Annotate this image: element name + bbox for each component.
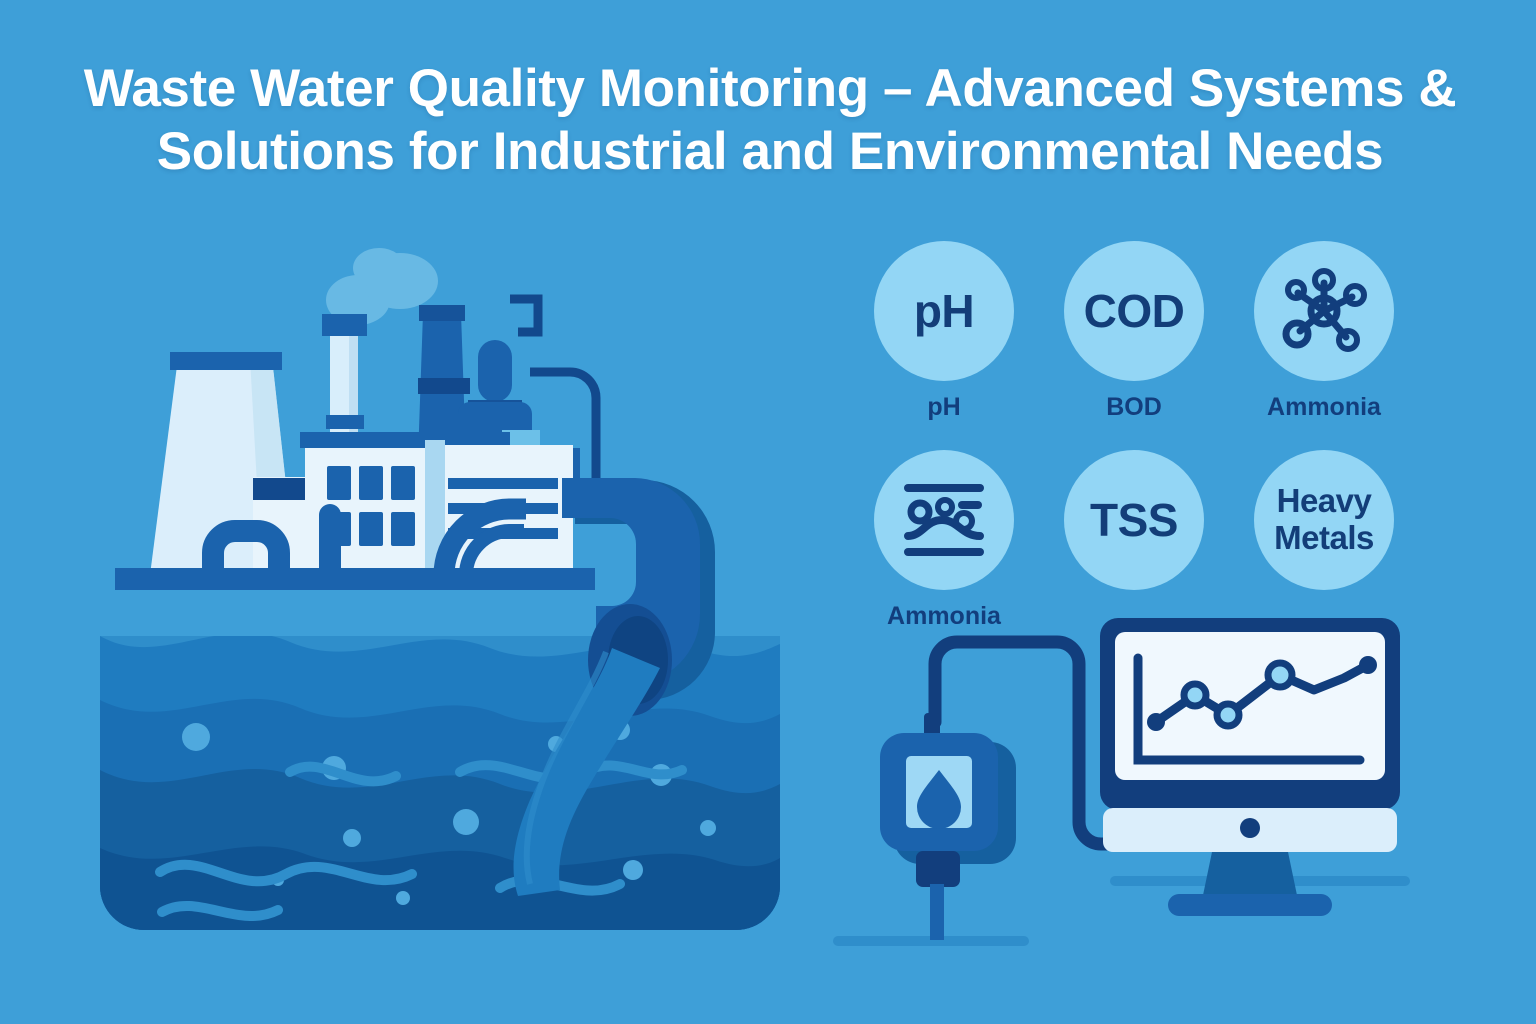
outfall-pipe xyxy=(514,478,715,896)
sensor-display xyxy=(906,756,972,828)
curved-pipe-a xyxy=(444,509,526,575)
overhead-pipes xyxy=(510,299,596,510)
molecule-icon xyxy=(1276,263,1372,359)
sensor-ground-line xyxy=(833,936,1029,946)
badge-caption-ph: pH xyxy=(874,393,1014,422)
water-body xyxy=(100,633,780,960)
monitor-stand-base xyxy=(1168,894,1332,916)
main-building xyxy=(300,432,510,575)
badge-abbr-heavy-metals: Heavy Metals xyxy=(1274,483,1374,557)
water-wave-lines xyxy=(160,765,682,916)
monitor-stand-neck xyxy=(1202,852,1298,900)
chart-line xyxy=(1156,665,1368,722)
curved-pipe-b xyxy=(466,531,524,575)
sensor-body xyxy=(880,733,998,851)
badge-caption-ammonia-bottom: Ammonia xyxy=(874,602,1014,631)
discharge-stream xyxy=(514,648,660,896)
ground-pipes xyxy=(213,515,330,575)
monitor-ground-line xyxy=(1110,876,1410,886)
badge-ammonia-molecule[interactable]: Ammonia xyxy=(1254,241,1394,422)
badge-abbr-cod: COD xyxy=(1084,288,1185,334)
smokestack-light xyxy=(322,314,367,575)
badge-ammonia-solids[interactable]: Ammonia xyxy=(874,450,1014,631)
badge-circle xyxy=(874,450,1014,590)
sensor-cable xyxy=(935,642,1131,844)
sensor-probe xyxy=(930,884,944,940)
water-drop-icon xyxy=(917,770,961,829)
sensor-neck xyxy=(916,851,960,887)
badge-abbr-tss: TSS xyxy=(1090,497,1178,543)
badge-circle xyxy=(1254,241,1394,381)
badge-caption-ammonia-top: Ammonia xyxy=(1254,393,1394,422)
badge-abbr-ph: pH xyxy=(914,288,974,334)
monitoring-display xyxy=(1100,618,1400,916)
cooling-tower xyxy=(150,352,296,575)
factory-ground-slab xyxy=(115,568,595,590)
chart-markers xyxy=(1147,656,1377,731)
badge-cod[interactable]: COD BOD xyxy=(1064,241,1204,422)
monitor-screen xyxy=(1115,632,1385,780)
infographic-canvas: Waste Water Quality Monitoring – Advance… xyxy=(0,0,1536,1024)
screen-line-chart xyxy=(1138,656,1377,760)
annex-roof xyxy=(253,478,327,500)
badge-caption-bod: BOD xyxy=(1064,393,1204,422)
process-tank xyxy=(458,340,610,510)
smokestack-dark xyxy=(414,305,474,575)
smoke-puffs xyxy=(326,248,438,325)
water-quality-sensor xyxy=(880,713,1016,940)
badge-circle: TSS xyxy=(1064,450,1204,590)
water-bubbles xyxy=(182,720,716,905)
industrial-factory xyxy=(115,248,610,590)
monitor-chin xyxy=(1103,808,1397,852)
monitor-indicator xyxy=(1240,818,1260,838)
annex-building xyxy=(253,477,327,575)
right-building xyxy=(445,445,573,575)
building-windows xyxy=(327,466,415,546)
badge-heavy-metals[interactable]: Heavy Metals xyxy=(1254,450,1394,590)
badge-circle: Heavy Metals xyxy=(1254,450,1394,590)
badge-tss[interactable]: TSS xyxy=(1064,450,1204,590)
sensor-body-shadow xyxy=(894,742,1016,864)
page-title: Waste Water Quality Monitoring – Advance… xyxy=(70,58,1470,183)
chart-axes xyxy=(1138,658,1360,760)
monitor-bezel xyxy=(1100,618,1400,810)
badge-circle: COD xyxy=(1064,241,1204,381)
building-louvers xyxy=(448,478,558,539)
suspended-solids-icon xyxy=(898,474,990,566)
stream-highlight xyxy=(527,652,606,884)
sensor-connector xyxy=(924,713,940,739)
badge-ph[interactable]: pH pH xyxy=(874,241,1014,422)
badge-circle: pH xyxy=(874,241,1014,381)
